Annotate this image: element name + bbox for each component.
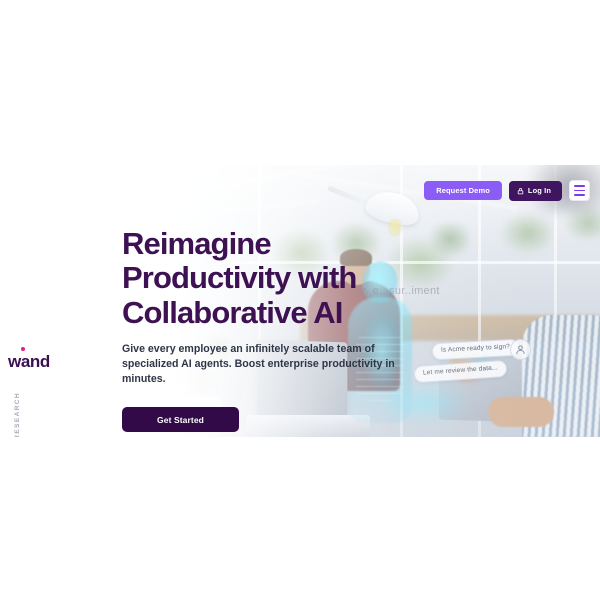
user-avatar-icon bbox=[510, 339, 531, 360]
foliage-decor-secondary bbox=[498, 205, 600, 285]
top-navigation: Request Demo Log In bbox=[424, 180, 590, 201]
hero-subheadline: Give every employee an infinitely scalab… bbox=[122, 342, 398, 387]
login-button[interactable]: Log In bbox=[509, 181, 562, 201]
nav-item-research[interactable]: RESEARCH bbox=[14, 392, 40, 437]
brand-logo-dot-icon bbox=[21, 347, 25, 351]
menu-bar bbox=[574, 190, 585, 192]
login-button-label: Log In bbox=[528, 187, 551, 195]
menu-bar bbox=[574, 194, 585, 196]
page-root: ...ur. e.. sur..iment Is Acme ready to s… bbox=[0, 0, 600, 600]
brand-logo[interactable]: wand bbox=[8, 350, 50, 370]
left-rail: wand RESEARCH CAREERS BLOG bbox=[0, 330, 56, 437]
page-title: Reimagine Productivity with Collaborativ… bbox=[122, 227, 422, 330]
lock-icon bbox=[517, 187, 524, 195]
hero-copy: Reimagine Productivity with Collaborativ… bbox=[122, 227, 422, 432]
person-striped-shirt-arm bbox=[488, 397, 554, 427]
brand-logo-text: wand bbox=[8, 353, 50, 370]
hero-section: ...ur. e.. sur..iment Is Acme ready to s… bbox=[0, 165, 600, 437]
vertical-nav: RESEARCH CAREERS BLOG bbox=[14, 392, 40, 437]
request-demo-button[interactable]: Request Demo bbox=[424, 181, 502, 201]
hamburger-menu-icon[interactable] bbox=[569, 180, 590, 201]
menu-bar bbox=[574, 185, 585, 187]
get-started-button[interactable]: Get Started bbox=[122, 407, 239, 432]
